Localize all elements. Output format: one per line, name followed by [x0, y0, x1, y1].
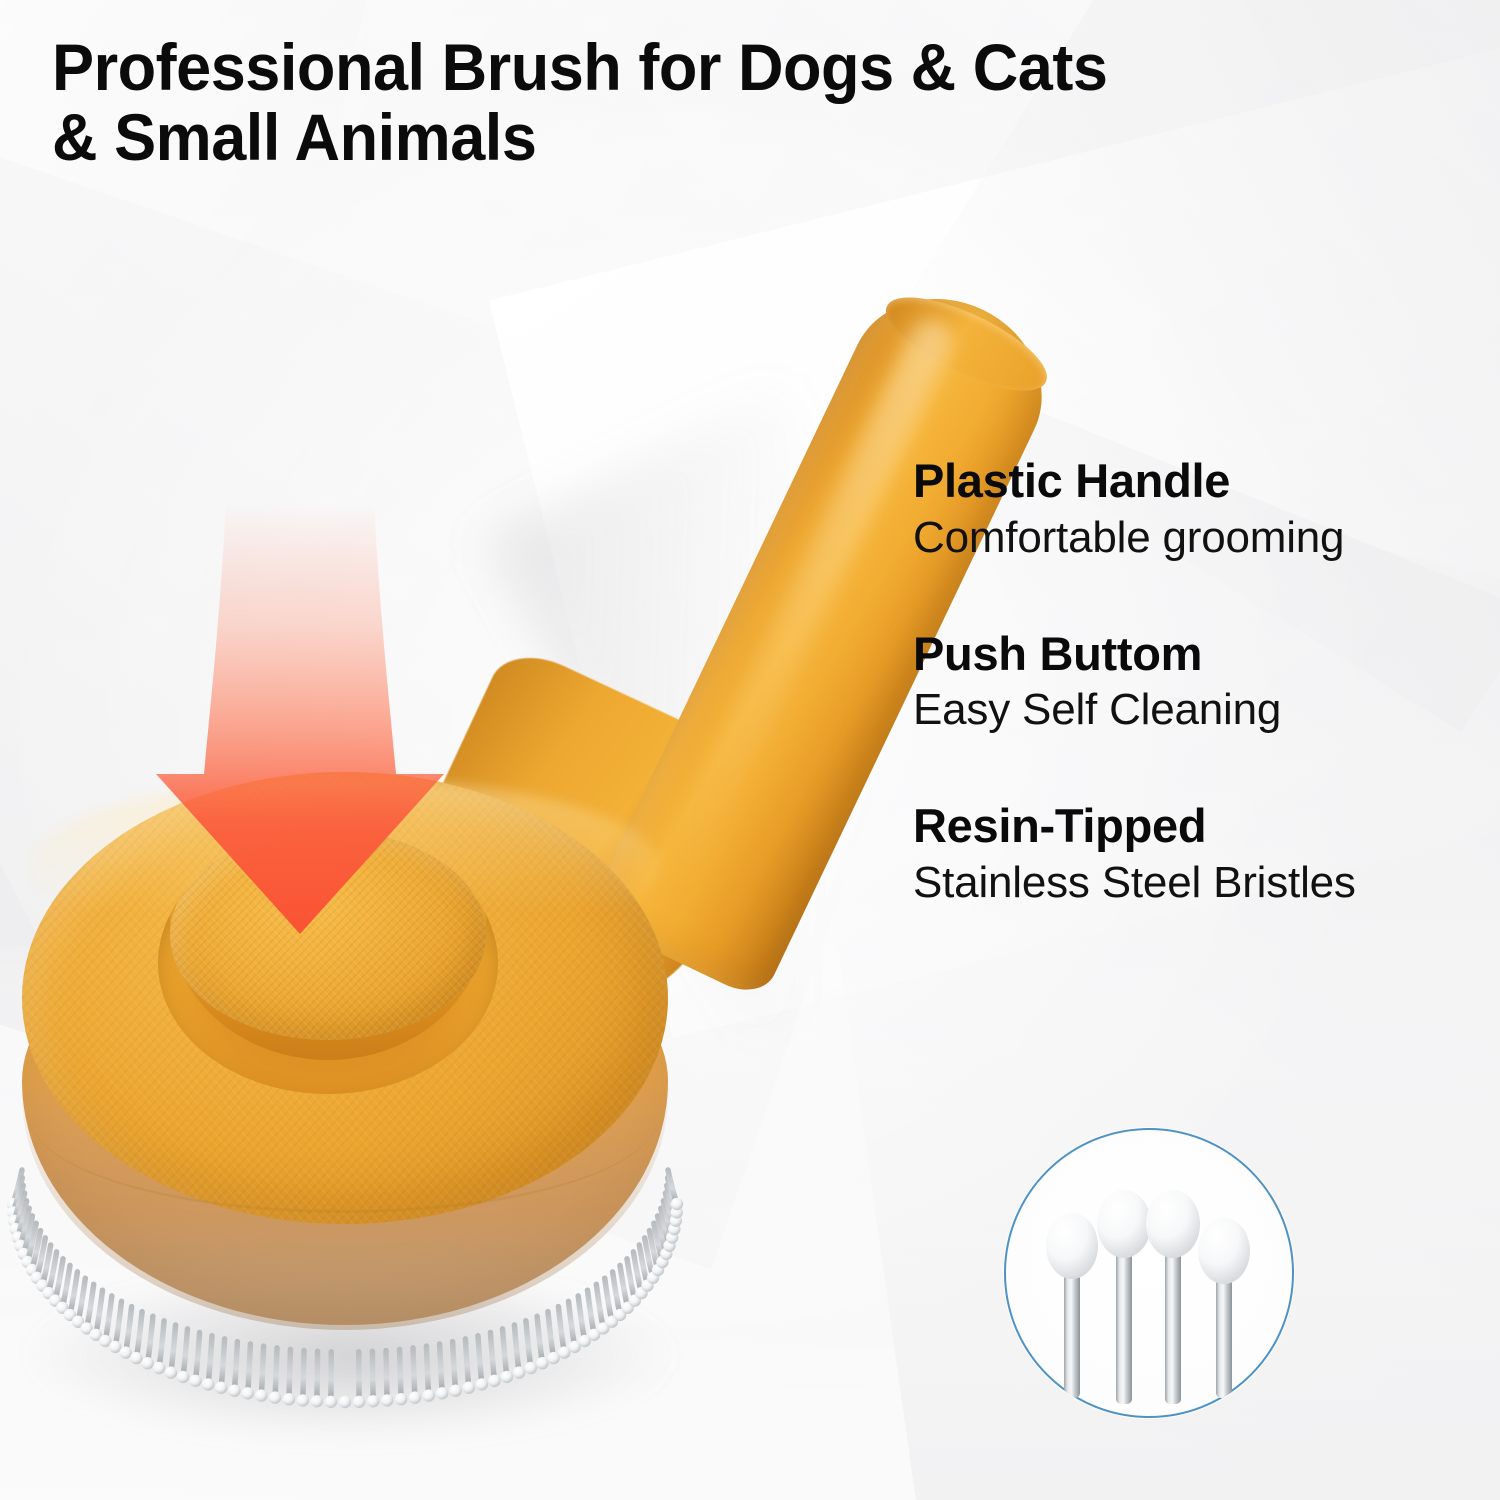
bristle-wire — [171, 1325, 176, 1373]
bristle-resin-tip — [325, 1396, 337, 1408]
bristle-resin-tip — [547, 1352, 559, 1364]
bristle-resin-tip — [242, 1387, 254, 1399]
feature-heading: Plastic Handle — [913, 455, 1483, 508]
bristle-wire — [248, 1344, 251, 1393]
bristle-wire — [596, 1284, 603, 1328]
bristle-wire — [115, 1301, 121, 1347]
bristle-wire — [87, 1284, 94, 1328]
bristle-resin-tip — [189, 1375, 201, 1387]
bristle-wire — [183, 1329, 187, 1377]
bristle-wire — [490, 1333, 494, 1381]
bristle-resin-tip — [558, 1346, 570, 1358]
bristle-wire — [105, 1296, 112, 1341]
bristle-wire — [465, 1339, 468, 1388]
bristle-resin-tip — [423, 1389, 435, 1401]
bristle-wire — [453, 1342, 456, 1391]
bristle-wire — [386, 1351, 387, 1401]
bristle-resin-tip — [476, 1378, 488, 1390]
bristle-wire — [440, 1344, 443, 1393]
bristle-wire — [96, 1290, 103, 1335]
bristle-wire — [569, 1301, 575, 1347]
bristle-wire — [537, 1316, 542, 1363]
bristle-wire — [78, 1278, 85, 1322]
feature-item: Plastic Handle Comfortable grooming — [913, 455, 1483, 564]
bristle-resin-tip — [120, 1346, 132, 1358]
bristle-resin-tip — [449, 1385, 461, 1397]
bristle-resin-tip — [463, 1382, 475, 1394]
bristle-wire — [303, 1351, 304, 1401]
bristle-resin-tip — [339, 1396, 351, 1408]
bristle-wire — [400, 1349, 402, 1399]
bristle-wire — [317, 1351, 318, 1401]
bristle-wire — [613, 1272, 621, 1315]
feature-subtext: Easy Self Cleaning — [913, 684, 1483, 736]
bristle-wire — [558, 1307, 564, 1353]
resin-pin — [1146, 1190, 1200, 1404]
bristle-resin-tip — [215, 1382, 227, 1394]
bristle-wire — [196, 1333, 200, 1381]
bristle-resin-tip — [228, 1385, 240, 1397]
bristle-resin-tip — [177, 1371, 189, 1383]
bristle-wire — [413, 1348, 415, 1398]
bristle-resin-tip — [130, 1352, 142, 1364]
resin-pin — [1198, 1218, 1250, 1398]
bristle-resin-tip — [141, 1357, 153, 1369]
bristle-resin-tip — [409, 1391, 421, 1403]
bristle-wire — [548, 1312, 554, 1359]
feature-subtext: Stainless Steel Bristles — [913, 857, 1483, 909]
bristle-wire — [503, 1329, 507, 1377]
bristle-resin-tip — [381, 1394, 393, 1406]
infographic-canvas: Professional Brush for Dogs & Cats & Sma… — [0, 0, 1500, 1500]
bristle-resin-tip — [513, 1366, 525, 1378]
bristle-resin-tip — [283, 1393, 295, 1405]
resin-pin — [1097, 1190, 1151, 1404]
bristle-resin-tip — [311, 1395, 323, 1407]
feature-item: Push Buttom Easy Self Cleaning — [913, 628, 1483, 737]
bristle-wire — [126, 1307, 132, 1353]
bristle-resin-tip — [367, 1395, 379, 1407]
bristle-wire — [261, 1346, 263, 1396]
bristle-resin-tip — [153, 1362, 165, 1374]
bristle-wire — [526, 1321, 531, 1368]
feature-heading: Push Buttom — [913, 628, 1483, 681]
bristle-wire — [578, 1296, 585, 1341]
bristle-resin-tip — [501, 1371, 513, 1383]
bristle-wire — [588, 1290, 595, 1335]
bristle-wire — [289, 1349, 291, 1399]
bristle-resin-tip — [525, 1362, 537, 1374]
bristle-resin-tip — [202, 1378, 214, 1390]
bristle-resin-tip — [109, 1341, 121, 1353]
push-direction-arrow — [140, 498, 460, 958]
bristle-resin-tip — [536, 1357, 548, 1369]
bristle-wire — [148, 1316, 153, 1363]
product-illustration — [0, 0, 900, 1500]
bristle-detail-inset — [1004, 1128, 1294, 1418]
bristle-resin-tip — [353, 1396, 365, 1408]
bristle-resin-tip — [297, 1394, 309, 1406]
bristle-wire — [136, 1312, 142, 1359]
bristle-wire — [478, 1336, 482, 1385]
bristle-wire — [70, 1272, 78, 1315]
bristle-resin-tip — [436, 1387, 448, 1399]
bristle-wire — [221, 1339, 224, 1388]
feature-list: Plastic Handle Comfortable grooming Push… — [913, 455, 1483, 973]
bristle-wire — [275, 1348, 277, 1398]
bristle-wire — [372, 1351, 373, 1401]
bristle-wire — [514, 1325, 519, 1373]
bristle-resin-tip — [269, 1391, 281, 1403]
bristle-resin-tip — [255, 1389, 267, 1401]
bristle-resin-tip — [488, 1375, 500, 1387]
feature-heading: Resin-Tipped — [913, 800, 1483, 853]
bristle-wire — [605, 1278, 612, 1322]
bristle-resin-tip — [671, 1198, 683, 1210]
feature-item: Resin-Tipped Stainless Steel Bristles — [913, 800, 1483, 909]
resin-pin — [1046, 1213, 1098, 1398]
feature-subtext: Comfortable grooming — [913, 512, 1483, 564]
bristle-wire — [159, 1321, 164, 1368]
bristle-resin-tip — [395, 1393, 407, 1405]
bristle-wire — [426, 1346, 428, 1396]
bristle-wire — [234, 1342, 237, 1391]
inset-content — [1004, 1128, 1294, 1418]
bristle-resin-tip — [165, 1366, 177, 1378]
bristle-wire — [208, 1336, 212, 1385]
